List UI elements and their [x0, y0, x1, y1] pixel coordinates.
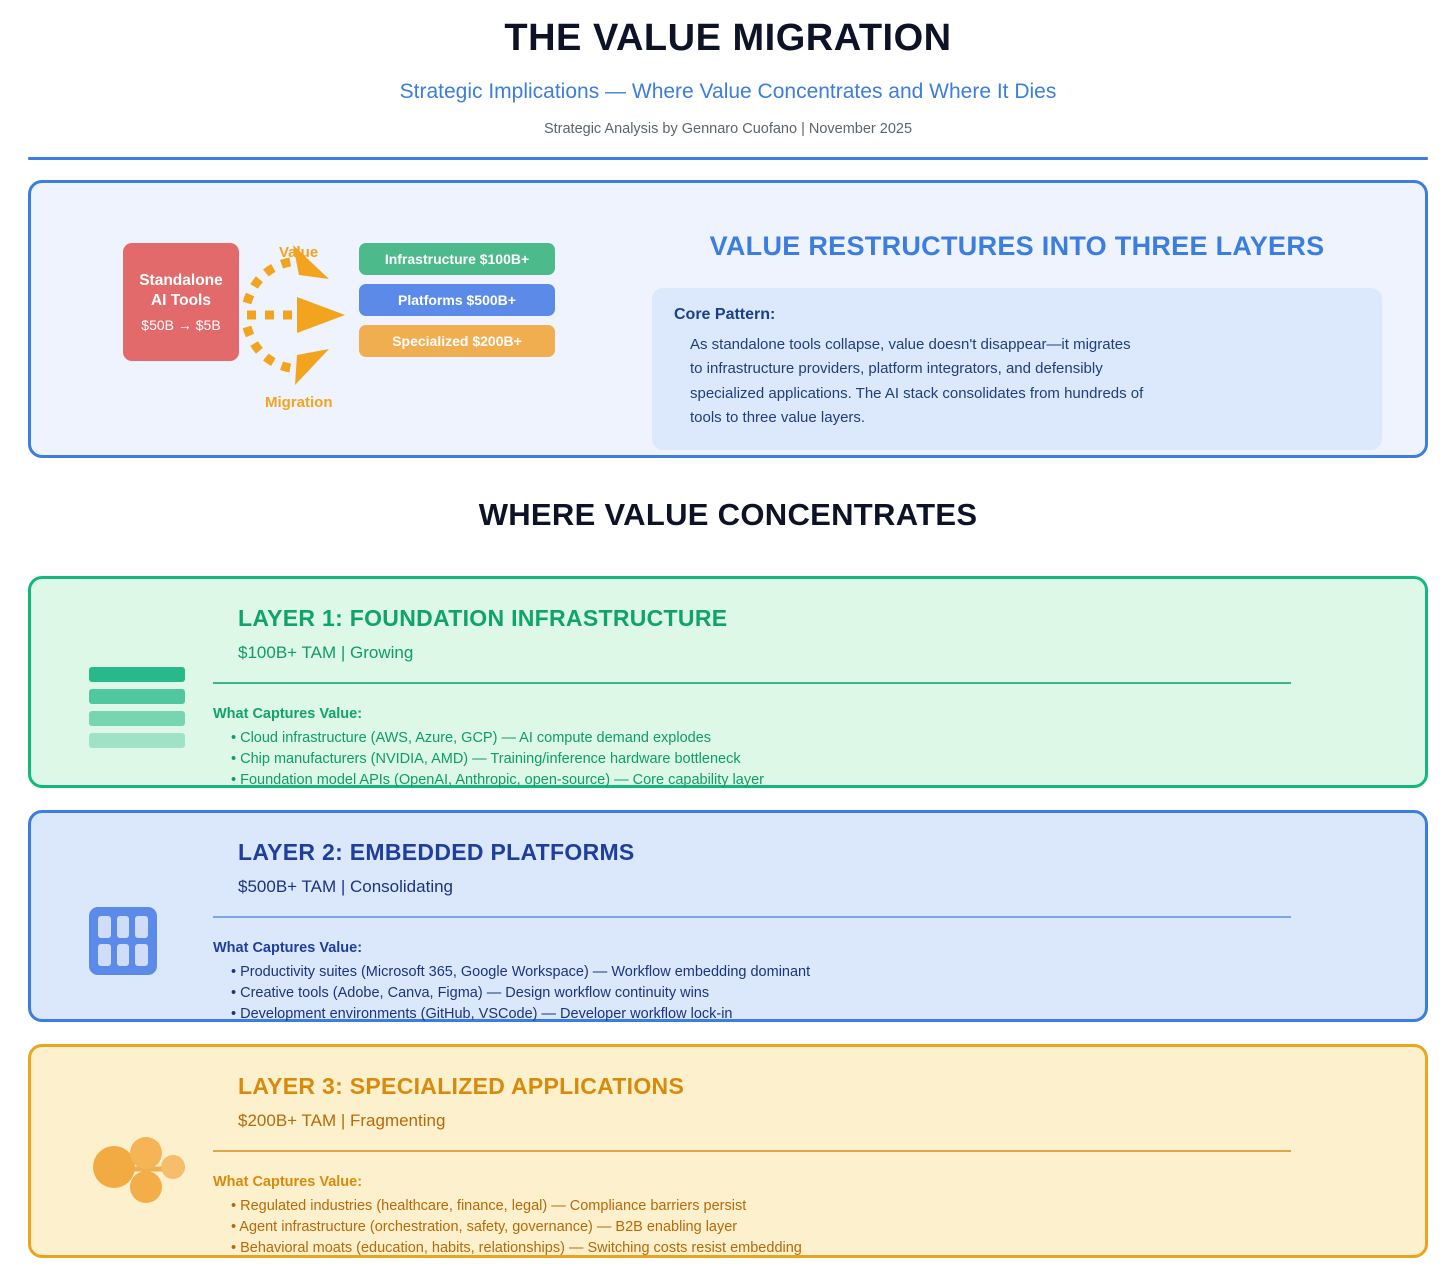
layer-card-embedded-platforms: LAYER 2: EMBEDDED PLATFORMS $500B+ TAM |…	[28, 810, 1428, 1022]
layer-card-specialized-applications: LAYER 3: SPECIALIZED APPLICATIONS $200B+…	[28, 1044, 1428, 1258]
captures-value-label: What Captures Value:	[213, 706, 1395, 722]
list-item: • Agent infrastructure (orchestration, s…	[231, 1217, 1395, 1238]
core-pattern-label: Core Pattern:	[674, 306, 1360, 324]
standalone-ai-tools-node: Standalone AI Tools $50B → $5B	[123, 243, 239, 361]
grid-squares-icon	[89, 907, 157, 975]
captures-value-label: What Captures Value:	[213, 1174, 1395, 1190]
infographic-page: THE VALUE MIGRATION Strategic Implicatio…	[0, 0, 1456, 1282]
page-byline: Strategic Analysis by Gennaro Cuofano | …	[0, 121, 1456, 137]
page-subtitle: Strategic Implications — Where Value Con…	[0, 80, 1456, 104]
layer-card-foundation-infrastructure: LAYER 1: FOUNDATION INFRASTRUCTURE $100B…	[28, 576, 1428, 788]
header-divider	[28, 157, 1428, 160]
target-platforms: Platforms $500B+	[359, 284, 555, 316]
captures-value-list: • Cloud infrastructure (AWS, Azure, GCP)…	[213, 728, 1395, 791]
target-specialized: Specialized $200B+	[359, 325, 555, 357]
source-node-value: $50B → $5B	[141, 317, 220, 333]
list-item: • Cloud infrastructure (AWS, Azure, GCP)…	[231, 728, 1395, 749]
captures-value-list: • Regulated industries (healthcare, fina…	[213, 1196, 1395, 1259]
value-migration-diagram: Standalone AI Tools $50B → $5B	[123, 243, 623, 403]
source-node-line2: AI Tools	[139, 291, 223, 311]
list-item: • Behavioral moats (education, habits, r…	[231, 1238, 1395, 1259]
layer-title: LAYER 2: EMBEDDED PLATFORMS	[238, 839, 1395, 866]
page-header: THE VALUE MIGRATION Strategic Implicatio…	[0, 0, 1456, 160]
layer-divider	[213, 682, 1291, 684]
target-infrastructure: Infrastructure $100B+	[359, 243, 555, 275]
stacked-bars-icon	[89, 667, 185, 755]
list-item: • Regulated industries (healthcare, fina…	[231, 1196, 1395, 1217]
core-pattern-text: As standalone tools collapse, value does…	[674, 333, 1144, 430]
network-nodes-glyph	[89, 1133, 189, 1209]
flow-label-migration: Migration	[265, 394, 333, 411]
list-item: • Foundation model APIs (OpenAI, Anthrop…	[231, 770, 1395, 791]
flow-label-value: Value	[279, 244, 318, 261]
network-nodes-icon	[89, 1133, 189, 1214]
captures-value-label: What Captures Value:	[213, 940, 1395, 956]
list-item: • Creative tools (Adobe, Canva, Figma) —…	[231, 983, 1395, 1004]
section-heading: WHERE VALUE CONCENTRATES	[0, 497, 1456, 533]
value-restructure-panel: Standalone AI Tools $50B → $5B	[28, 180, 1428, 458]
source-node-line1: Standalone	[139, 271, 223, 291]
hero-heading: VALUE RESTRUCTURES INTO THREE LAYERS	[651, 231, 1383, 262]
list-item: • Productivity suites (Microsoft 365, Go…	[231, 962, 1395, 983]
layer-meta: $500B+ TAM | Consolidating	[238, 877, 1395, 897]
core-pattern-area: VALUE RESTRUCTURES INTO THREE LAYERS Cor…	[651, 183, 1425, 455]
layer-meta: $100B+ TAM | Growing	[238, 643, 1395, 663]
layer-title: LAYER 1: FOUNDATION INFRASTRUCTURE	[238, 605, 1395, 632]
page-title: THE VALUE MIGRATION	[0, 16, 1456, 62]
list-item: • Chip manufacturers (NVIDIA, AMD) — Tra…	[231, 749, 1395, 770]
list-item: • Development environments (GitHub, VSCo…	[231, 1004, 1395, 1025]
captures-value-list: • Productivity suites (Microsoft 365, Go…	[213, 962, 1395, 1025]
migration-arrows-icon: Value Migration	[241, 231, 371, 415]
migration-target-list: Infrastructure $100B+ Platforms $500B+ S…	[359, 243, 555, 366]
layer-divider	[213, 916, 1291, 918]
layer-meta: $200B+ TAM | Fragmenting	[238, 1111, 1395, 1131]
layer-title: LAYER 3: SPECIALIZED APPLICATIONS	[238, 1073, 1395, 1100]
migration-diagram-area: Standalone AI Tools $50B → $5B	[31, 183, 651, 455]
layer-divider	[213, 1150, 1291, 1152]
core-pattern-box: Core Pattern: As standalone tools collap…	[652, 288, 1382, 450]
